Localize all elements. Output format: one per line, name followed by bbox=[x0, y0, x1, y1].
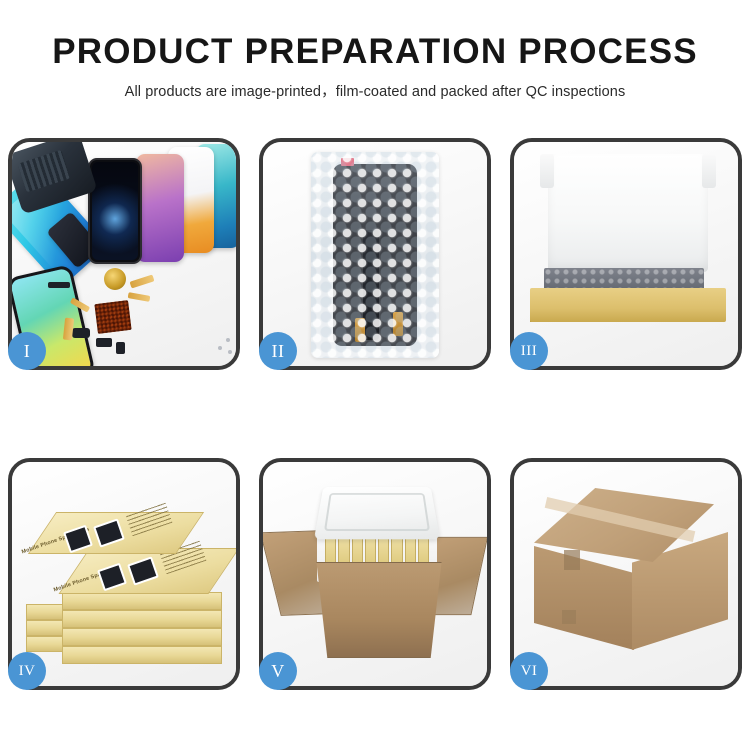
phone-back-housing-icon bbox=[12, 142, 98, 215]
chip-part-icon bbox=[72, 328, 90, 338]
page-subtitle: All products are image-printed，film-coat… bbox=[0, 80, 750, 101]
phone-screen-purple-icon bbox=[136, 154, 184, 262]
screw-icon bbox=[218, 346, 222, 350]
page-header: PRODUCT PREPARATION PROCESS All products… bbox=[0, 0, 750, 101]
white-foam-sheet-icon bbox=[548, 154, 708, 272]
step-image-phone-parts bbox=[12, 142, 236, 366]
yellow-box-tray-icon bbox=[530, 288, 726, 322]
copper-mesh-part-icon bbox=[94, 300, 131, 334]
chip-part-icon bbox=[96, 338, 112, 347]
step-panel-2[interactable]: II bbox=[259, 138, 491, 370]
flex-cable-icon bbox=[130, 274, 155, 288]
step-badge-4: IV bbox=[8, 652, 46, 690]
stacked-box-layer bbox=[62, 646, 222, 664]
step-panel-1[interactable]: I bbox=[8, 138, 240, 370]
step-image-foam-carton bbox=[263, 462, 487, 686]
page-title: PRODUCT PREPARATION PROCESS bbox=[0, 34, 750, 71]
coil-part-icon bbox=[104, 268, 126, 290]
step-badge-6: VI bbox=[510, 652, 548, 690]
step-badge-1: I bbox=[8, 332, 46, 370]
box-stack-icon: Mobile Phone Spare Parts Mobile Phone Sp… bbox=[22, 488, 232, 668]
step-image-bubble-wrap bbox=[263, 142, 487, 366]
screw-icon bbox=[226, 338, 230, 342]
foam-lid-open-icon bbox=[314, 487, 440, 539]
phone-screen-black-icon bbox=[88, 158, 142, 264]
step-image-sealed-carton bbox=[514, 462, 738, 686]
step-image-inner-box bbox=[514, 142, 738, 366]
step-badge-5: V bbox=[259, 652, 297, 690]
step-badge-2: II bbox=[259, 332, 297, 370]
chip-part-icon bbox=[116, 342, 125, 354]
step-panel-5[interactable]: V bbox=[259, 458, 491, 690]
flex-cable-icon bbox=[128, 292, 151, 302]
carton-body-icon bbox=[311, 562, 447, 658]
step-badge-3: III bbox=[510, 332, 548, 370]
sealed-carton-left-face bbox=[534, 546, 634, 650]
stacked-box-layer bbox=[62, 628, 222, 646]
bubble-texture-secondary bbox=[311, 152, 439, 358]
step-panel-4[interactable]: Mobile Phone Spare Parts Mobile Phone Sp… bbox=[8, 458, 240, 690]
process-step-grid: I II III bbox=[8, 138, 742, 690]
carton-seam-patch bbox=[564, 550, 580, 570]
carton-seam-patch bbox=[562, 610, 576, 624]
bubble-wrap-bag-icon bbox=[311, 152, 439, 358]
stacked-box-layer bbox=[62, 610, 222, 628]
stacked-box-layer bbox=[62, 592, 222, 610]
screw-icon bbox=[228, 350, 232, 354]
step-panel-6[interactable]: VI bbox=[510, 458, 742, 690]
step-panel-3[interactable]: III bbox=[510, 138, 742, 370]
chip-part-icon bbox=[48, 282, 70, 288]
step-image-stacked-boxes: Mobile Phone Spare Parts Mobile Phone Sp… bbox=[12, 462, 236, 686]
